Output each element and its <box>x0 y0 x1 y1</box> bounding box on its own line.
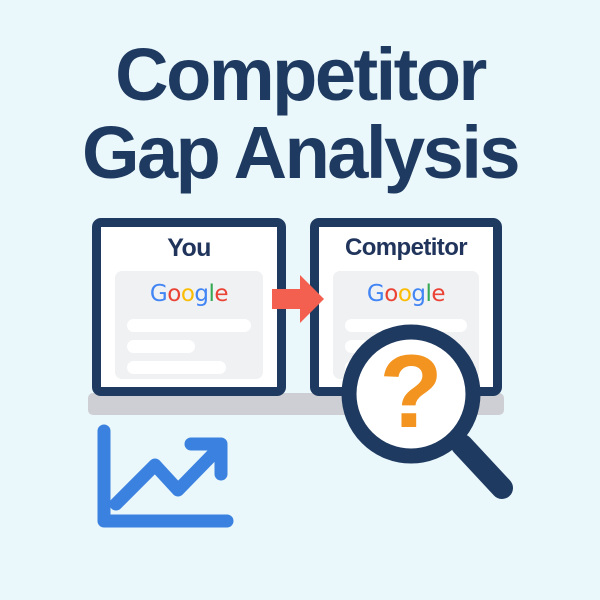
google-logo-competitor: Google <box>333 283 479 306</box>
growth-chart-icon <box>93 424 235 532</box>
screen-label-you: You <box>101 234 277 263</box>
poster-canvas: Competitor Gap Analysis You Google Compe… <box>0 0 600 600</box>
google-letter-g1: G <box>367 281 384 307</box>
result-bar <box>127 361 226 374</box>
google-letter-o1: o <box>384 281 398 307</box>
google-letter-o2: o <box>398 281 412 307</box>
google-letter-o2: o <box>181 281 195 307</box>
serp-card-you: Google <box>115 271 263 379</box>
screen-label-competitor: Competitor <box>319 234 493 262</box>
title-line-2: Gap Analysis <box>0 116 600 190</box>
google-letter-g2: g <box>194 281 208 307</box>
monitor-you: You Google <box>92 218 286 396</box>
google-letter-o1: o <box>167 281 181 307</box>
google-letter-e: e <box>214 281 228 307</box>
title-line-1: Competitor <box>0 38 600 112</box>
result-bars-you <box>127 319 251 382</box>
result-bar <box>127 340 195 353</box>
page-title: Competitor Gap Analysis <box>0 38 600 190</box>
google-logo-you: Google <box>115 283 263 306</box>
google-letter-g1: G <box>150 281 167 307</box>
magnifying-glass-icon <box>337 320 517 505</box>
screen-you: You Google <box>101 227 277 387</box>
right-arrow-icon <box>270 271 326 327</box>
google-letter-g2: g <box>411 281 425 307</box>
google-letter-e: e <box>431 281 445 307</box>
result-bar <box>127 319 251 332</box>
